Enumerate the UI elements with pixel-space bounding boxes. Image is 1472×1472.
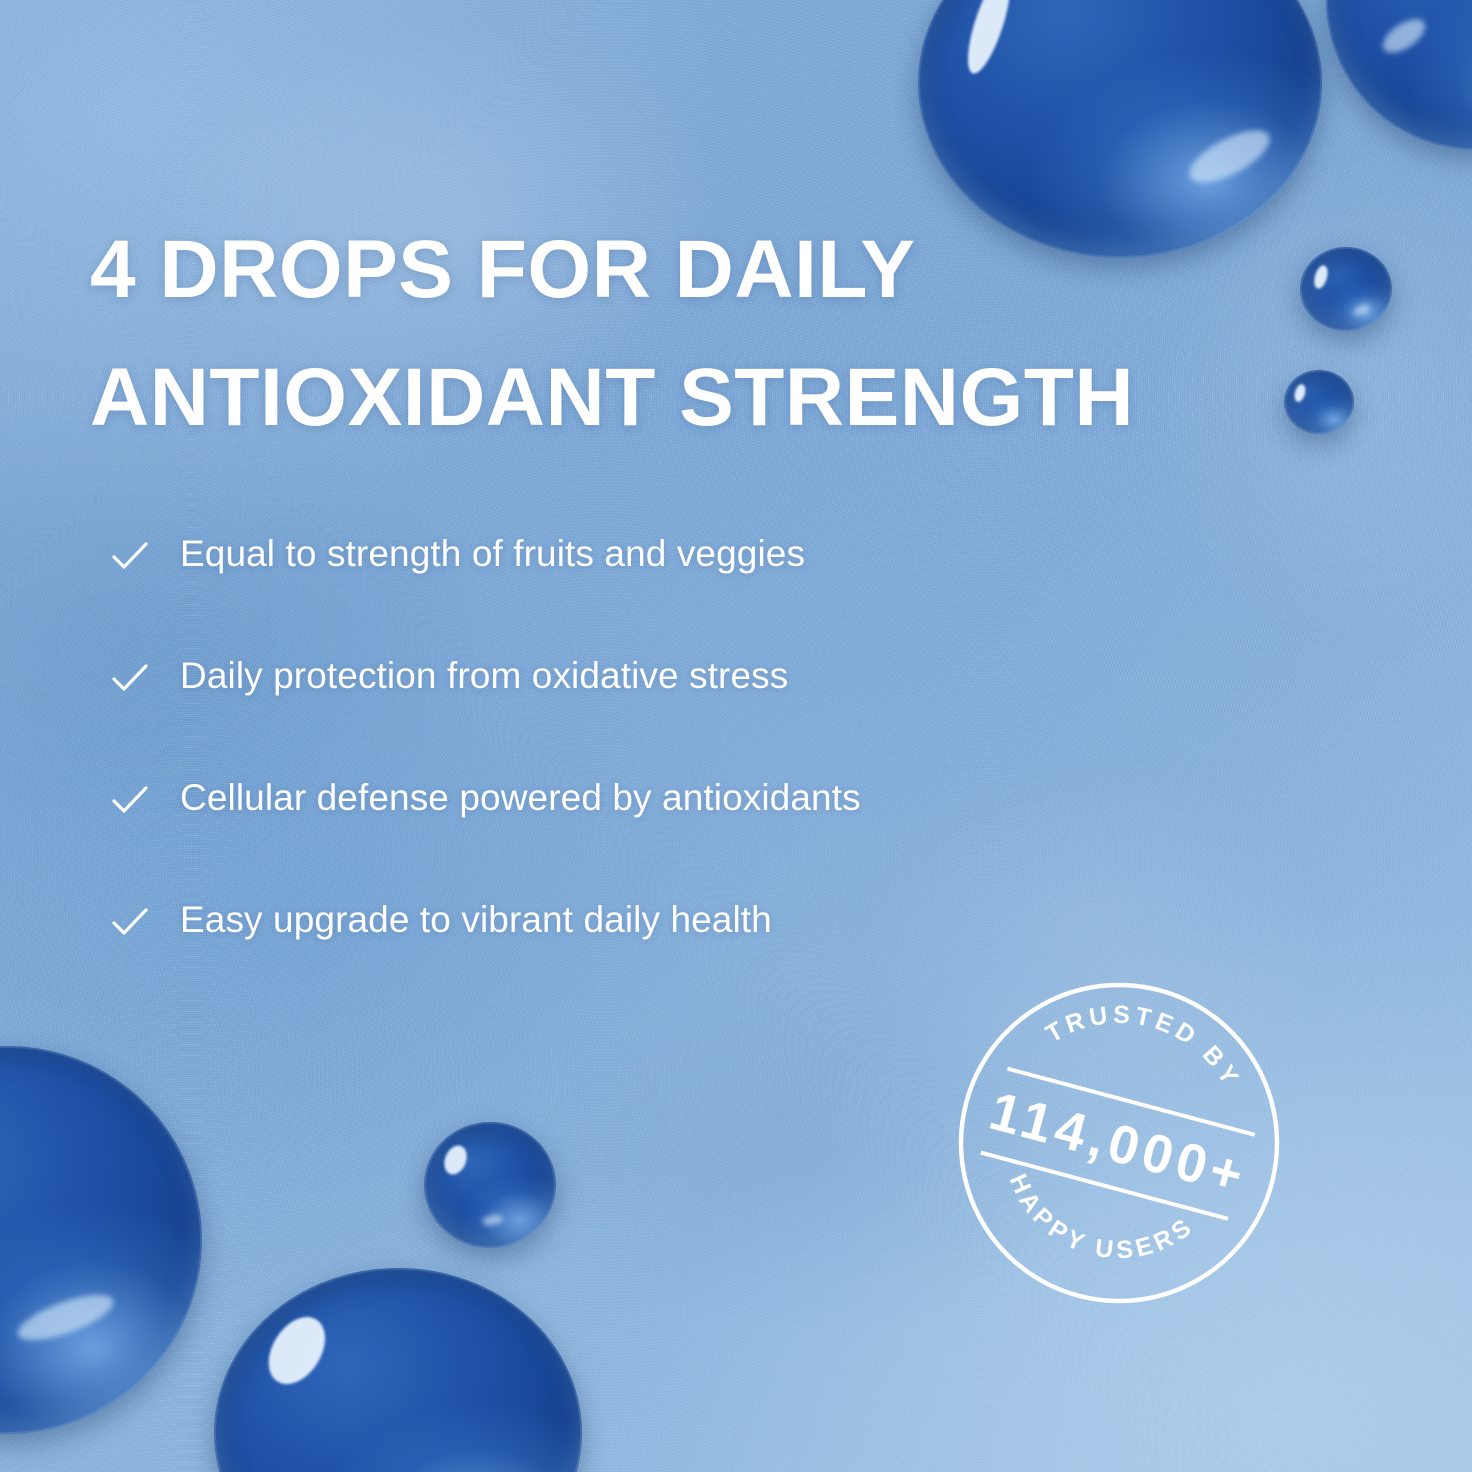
headline-line-2: Antioxidant Strength (90, 334, 1210, 462)
droplet-rim (424, 1122, 556, 1248)
check-icon (108, 778, 152, 822)
check-icon (108, 656, 152, 700)
benefit-label: Daily protection from oxidative stress (180, 654, 788, 698)
check-icon (108, 900, 152, 944)
benefit-label: Equal to strength of fruits and veggies (180, 532, 805, 576)
check-icon (108, 534, 152, 578)
droplet-rim (1300, 247, 1392, 331)
benefit-item: Daily protection from oxidative stress (108, 654, 1108, 776)
benefit-item: Cellular defense powered by antioxidants (108, 776, 1108, 898)
headline-line-1: 4 Drops for Daily (90, 206, 1210, 334)
headline: 4 Drops for Daily Antioxidant Strength (90, 206, 1210, 462)
water-droplet-medium-lower-middle (424, 1122, 556, 1248)
benefit-item: Equal to strength of fruits and veggies (108, 532, 1108, 654)
badge-top-arc-text: TRUSTED BY (1036, 980, 1258, 1098)
trust-badge: TRUSTED BY 114,000+ HAPPY USERS (956, 980, 1282, 1306)
benefit-list: Equal to strength of fruits and veggies … (108, 532, 1108, 1020)
promo-graphic: 4 Drops for Daily Antioxidant Strength E… (0, 0, 1472, 1472)
water-droplet-small-upper-right (1300, 247, 1392, 331)
water-droplet-tiny-right (1284, 370, 1354, 434)
benefit-label: Easy upgrade to vibrant daily health (180, 898, 772, 942)
benefit-label: Cellular defense powered by antioxidants (180, 776, 861, 820)
droplet-rim (1284, 370, 1354, 434)
